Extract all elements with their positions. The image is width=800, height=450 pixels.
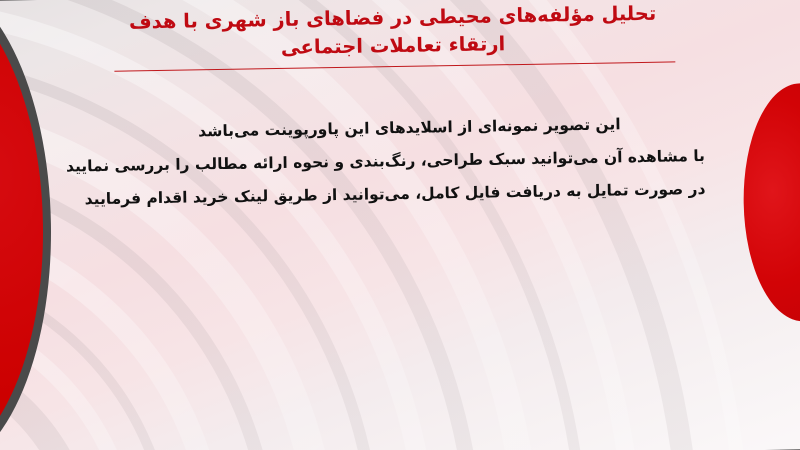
slide-canvas: تحلیل مؤلفه‌های محیطی در فضاهای باز شهری… <box>0 0 800 450</box>
slide-title: تحلیل مؤلفه‌های محیطی در فضاهای باز شهری… <box>92 0 693 65</box>
slide-body-text: این تصویر نمونه‌ای از اسلایدهای این پاور… <box>114 107 706 216</box>
slide-content: تحلیل مؤلفه‌های محیطی در فضاهای باز شهری… <box>0 0 800 450</box>
slide-page: تحلیل مؤلفه‌های محیطی در فضاهای باز شهری… <box>0 0 800 450</box>
